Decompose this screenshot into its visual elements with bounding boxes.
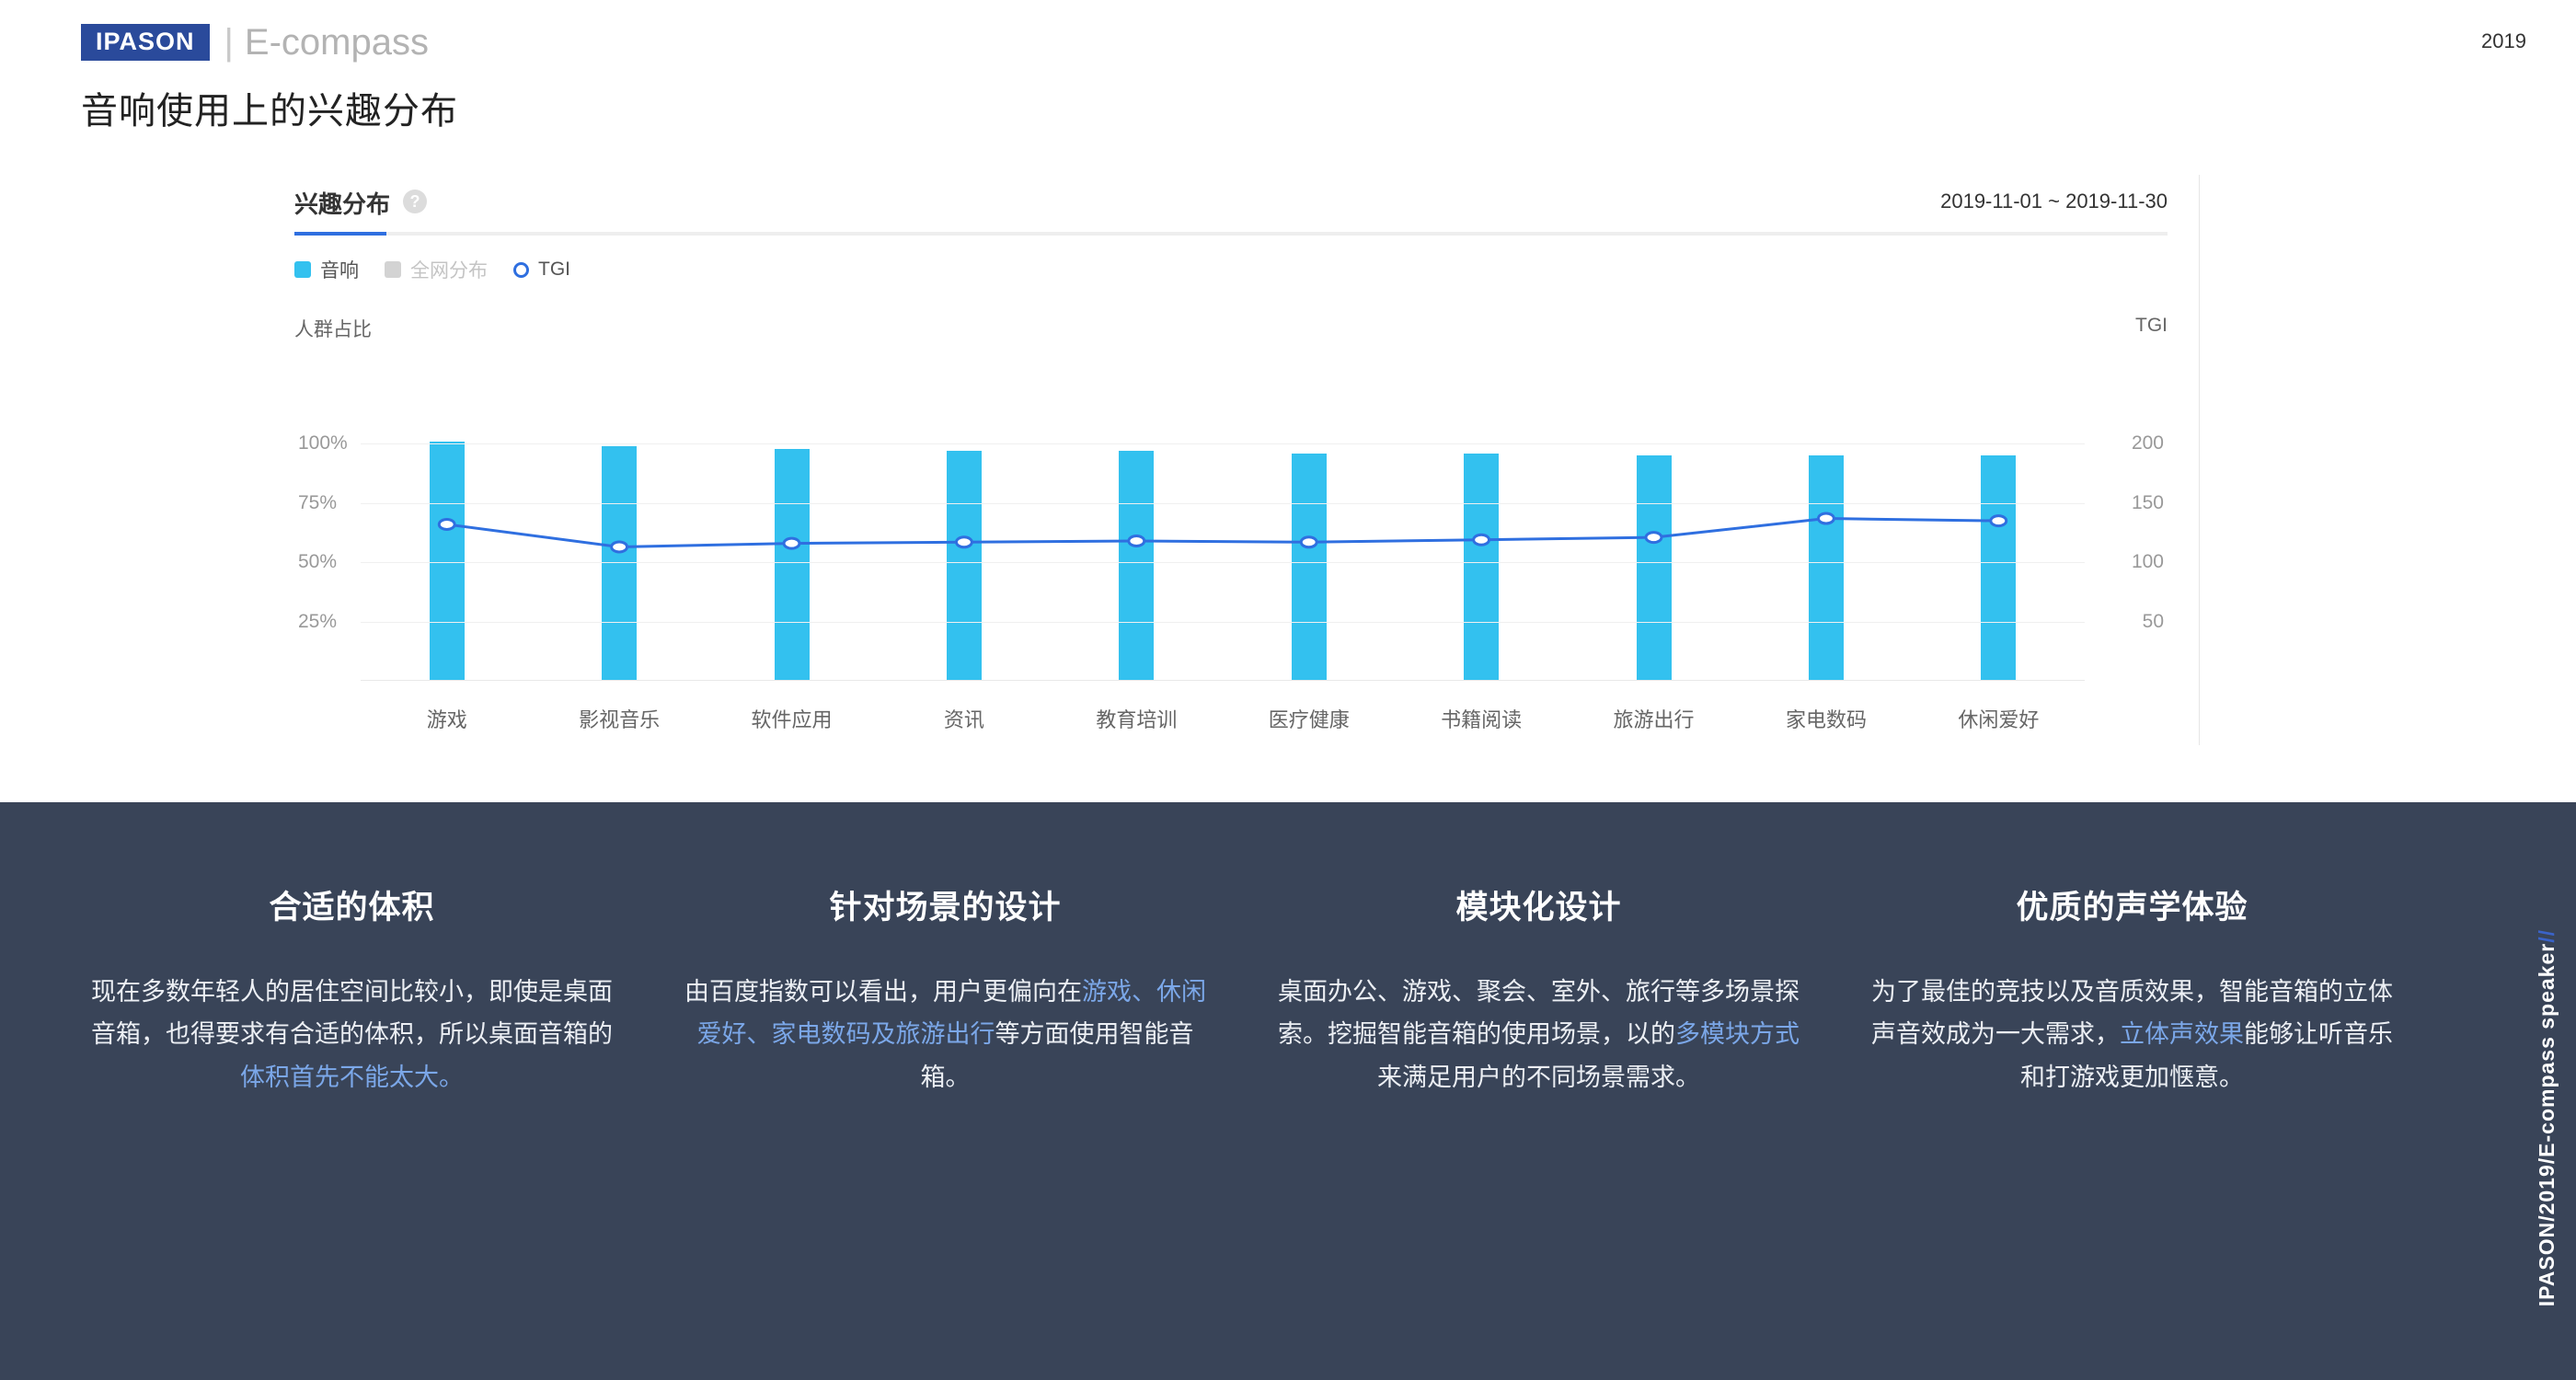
feature-body: 现在多数年轻人的居住空间比较小，即使是桌面音箱，也得要求有合适的体积，所以桌面音… bbox=[86, 971, 617, 1098]
feature-body: 由百度指数可以看出，用户更偏向在游戏、休闲爱好、家电数码及旅游出行等方面使用智能… bbox=[680, 971, 1211, 1098]
plot-inner: 25%50%75%100%50100150200 bbox=[361, 385, 2085, 681]
x-axis-label: 书籍阅读 bbox=[1395, 704, 1567, 733]
gridline bbox=[361, 503, 2085, 504]
feature-title: 优质的声学体验 bbox=[1867, 881, 2398, 928]
tgi-data-point[interactable] bbox=[1646, 533, 1662, 543]
page-header: IPASON | E-compass 音响使用上的兴趣分布 2019 bbox=[0, 0, 2576, 147]
feature-body-text: 现在多数年轻人的居住空间比较小，即使是桌面音箱，也得要求有合适的体积，所以桌面音… bbox=[91, 978, 613, 1048]
side-watermark: IPASON/2019/E-compass speaker// bbox=[2535, 929, 2559, 1306]
x-axis-label: 影视音乐 bbox=[533, 704, 705, 733]
tgi-data-point[interactable] bbox=[1474, 535, 1489, 545]
y-axis-title: 人群占比 bbox=[294, 315, 372, 342]
y2-axis-tick-label: 150 bbox=[2099, 492, 2164, 514]
feature-body-highlight: 体积首先不能太大。 bbox=[240, 1064, 464, 1091]
feature-body-text: 来满足用户的不同场景需求。 bbox=[1377, 1064, 1700, 1091]
legend-label: 全网分布 bbox=[410, 256, 488, 283]
y-axis-tick-label: 100% bbox=[298, 432, 348, 454]
y-axis-tick-label: 50% bbox=[298, 551, 337, 573]
brand-name: E-compass bbox=[245, 24, 429, 61]
year-label: 2019 bbox=[2481, 29, 2526, 53]
gridline bbox=[361, 562, 2085, 563]
legend-circle-icon bbox=[513, 262, 529, 278]
date-range-label[interactable]: 2019-11-01 ~ 2019-11-30 bbox=[1940, 190, 2168, 213]
feature-column: 合适的体积现在多数年轻人的居住空间比较小，即使是桌面音箱，也得要求有合适的体积，… bbox=[55, 881, 649, 1098]
legend-swatch-icon bbox=[294, 261, 311, 278]
feature-panel: 合适的体积现在多数年轻人的居住空间比较小，即使是桌面音箱，也得要求有合适的体积，… bbox=[0, 802, 2576, 1380]
feature-body: 桌面办公、游戏、聚会、室外、旅行等多场景探索。挖掘智能音箱的使用场景，以的多模块… bbox=[1273, 971, 1804, 1098]
tgi-data-point[interactable] bbox=[439, 519, 454, 529]
axis-baseline bbox=[361, 680, 2085, 681]
y2-axis-title: TGI bbox=[2135, 315, 2168, 337]
y-axis-tick-label: 75% bbox=[298, 492, 337, 514]
feature-body-highlight: 立体声效果 bbox=[2120, 1020, 2244, 1048]
tgi-line-layer bbox=[361, 385, 2085, 681]
chart-legend: 音响 全网分布 TGI bbox=[294, 256, 570, 283]
feature-body: 为了最佳的竞技以及音质效果，智能音箱的立体声音效成为一大需求，立体声效果能够让听… bbox=[1867, 971, 2398, 1098]
legend-label: 音响 bbox=[320, 256, 359, 283]
legend-swatch-icon bbox=[385, 261, 401, 278]
chart-card-header: 兴趣分布 ? 2019-11-01 ~ 2019-11-30 bbox=[294, 175, 2282, 237]
legend-item-tgi[interactable]: TGI bbox=[513, 259, 570, 281]
feature-columns: 合适的体积现在多数年轻人的居住空间比较小，即使是桌面音箱，也得要求有合适的体积，… bbox=[55, 881, 2429, 1098]
card-right-divider bbox=[2199, 175, 2200, 745]
x-axis-label: 医疗健康 bbox=[1223, 704, 1395, 733]
chart-title: 兴趣分布 bbox=[294, 186, 390, 220]
tgi-data-point[interactable] bbox=[1818, 513, 1834, 523]
brand-lockup: IPASON | E-compass bbox=[81, 24, 429, 61]
feature-column: 针对场景的设计由百度指数可以看出，用户更偏向在游戏、休闲爱好、家电数码及旅游出行… bbox=[649, 881, 1242, 1098]
feature-body-highlight: 多模块方式 bbox=[1675, 1020, 1800, 1048]
x-axis-label: 旅游出行 bbox=[1568, 704, 1740, 733]
feature-column: 模块化设计桌面办公、游戏、聚会、室外、旅行等多场景探索。挖掘智能音箱的使用场景，… bbox=[1242, 881, 1835, 1098]
legend-item-allnet[interactable]: 全网分布 bbox=[385, 256, 488, 283]
y2-axis-tick-label: 50 bbox=[2099, 611, 2164, 633]
tgi-line bbox=[447, 519, 1999, 547]
x-axis-label: 家电数码 bbox=[1740, 704, 1912, 733]
x-axis-label: 教育培训 bbox=[1051, 704, 1223, 733]
chart-plot-area: 25%50%75%100%50100150200 游戏影视音乐软件应用资讯教育培… bbox=[294, 345, 2168, 681]
x-axis-label: 游戏 bbox=[361, 704, 533, 733]
tgi-data-point[interactable] bbox=[612, 542, 627, 552]
side-watermark-slashes: // bbox=[2535, 929, 2559, 943]
feature-column: 优质的声学体验为了最佳的竞技以及音质效果，智能音箱的立体声音效成为一大需求，立体… bbox=[1835, 881, 2429, 1098]
ipason-logo: IPASON bbox=[81, 24, 210, 61]
feature-title: 合适的体积 bbox=[86, 881, 617, 928]
legend-item-audio[interactable]: 音响 bbox=[294, 256, 359, 283]
x-axis-label: 软件应用 bbox=[706, 704, 878, 733]
gridline bbox=[361, 443, 2085, 444]
feature-title: 针对场景的设计 bbox=[680, 881, 1211, 928]
side-watermark-text: IPASON/2019/E-compass speaker bbox=[2535, 943, 2559, 1306]
interest-distribution-chart-card: 兴趣分布 ? 2019-11-01 ~ 2019-11-30 音响 全网分布 T… bbox=[294, 175, 2282, 727]
y2-axis-tick-label: 100 bbox=[2099, 551, 2164, 573]
tgi-data-point[interactable] bbox=[1991, 516, 2007, 526]
tgi-data-point[interactable] bbox=[784, 538, 799, 548]
x-axis-label: 资讯 bbox=[878, 704, 1050, 733]
help-icon[interactable]: ? bbox=[403, 190, 427, 213]
y2-axis-tick-label: 200 bbox=[2099, 432, 2164, 454]
x-axis-label: 休闲爱好 bbox=[1913, 704, 2085, 733]
feature-body-text: 由百度指数可以看出，用户更偏向在 bbox=[684, 978, 1082, 1006]
legend-label: TGI bbox=[538, 259, 570, 281]
x-axis-category-labels: 游戏影视音乐软件应用资讯教育培训医疗健康书籍阅读旅游出行家电数码休闲爱好 bbox=[361, 704, 2085, 733]
tgi-data-point[interactable] bbox=[1129, 536, 1144, 546]
tgi-data-point[interactable] bbox=[956, 537, 972, 547]
page-title: 音响使用上的兴趣分布 bbox=[81, 81, 458, 134]
tgi-data-point[interactable] bbox=[1301, 537, 1317, 547]
feature-title: 模块化设计 bbox=[1273, 881, 1804, 928]
brand-separator: | bbox=[224, 24, 234, 61]
y-axis-tick-label: 25% bbox=[298, 611, 337, 633]
tab-underline bbox=[294, 232, 2168, 236]
gridline bbox=[361, 622, 2085, 623]
